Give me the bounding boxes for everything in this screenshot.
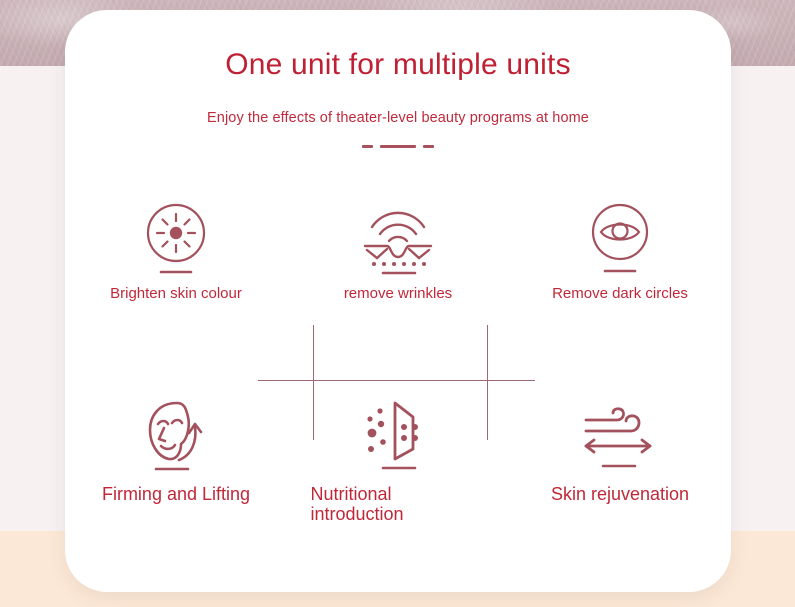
face-lift-arrow-icon [132, 396, 220, 474]
feature-item-brighten-skin[interactable]: Brighten skin colour [65, 200, 287, 303]
dash-divider [65, 145, 731, 148]
sun-in-circle-icon [132, 200, 220, 278]
feature-label: Firming and Lifting [102, 484, 250, 504]
page-subtitle: Enjoy the effects of theater-level beaut… [65, 110, 731, 126]
feature-label: Skin rejuvenation [551, 484, 689, 504]
feature-item-skin-rejuvenation[interactable]: Skin rejuvenation [509, 396, 731, 504]
page-title: One unit for multiple units [65, 48, 731, 82]
feature-label: Brighten skin colour [110, 286, 242, 303]
dash-long-center [380, 145, 416, 148]
dash-short-right [423, 145, 434, 148]
dash-short-left [362, 145, 373, 148]
eye-in-circle-icon [576, 200, 664, 278]
feature-item-remove-wrinkles[interactable]: remove wrinkles [287, 200, 509, 303]
grid-separator-horizontal [258, 380, 535, 381]
wrinkle-waves-icon [354, 200, 442, 278]
feature-grid: Brighten skin colour [65, 200, 731, 570]
air-flow-arrow-icon [576, 396, 664, 474]
feature-label: remove wrinkles [344, 286, 452, 303]
feature-card: One unit for multiple units Enjoy the ef… [65, 10, 731, 592]
feature-item-remove-dark-circles[interactable]: Remove dark circles [509, 200, 731, 303]
page-root: One unit for multiple units Enjoy the ef… [0, 0, 795, 607]
feature-label: Remove dark circles [552, 286, 688, 303]
feature-label: Nutritional introduction [311, 484, 486, 524]
feature-item-firming-lifting[interactable]: Firming and Lifting [65, 396, 287, 504]
nutrient-absorption-icon [354, 396, 442, 474]
feature-item-nutritional-introduction[interactable]: Nutritional introduction [287, 396, 509, 524]
